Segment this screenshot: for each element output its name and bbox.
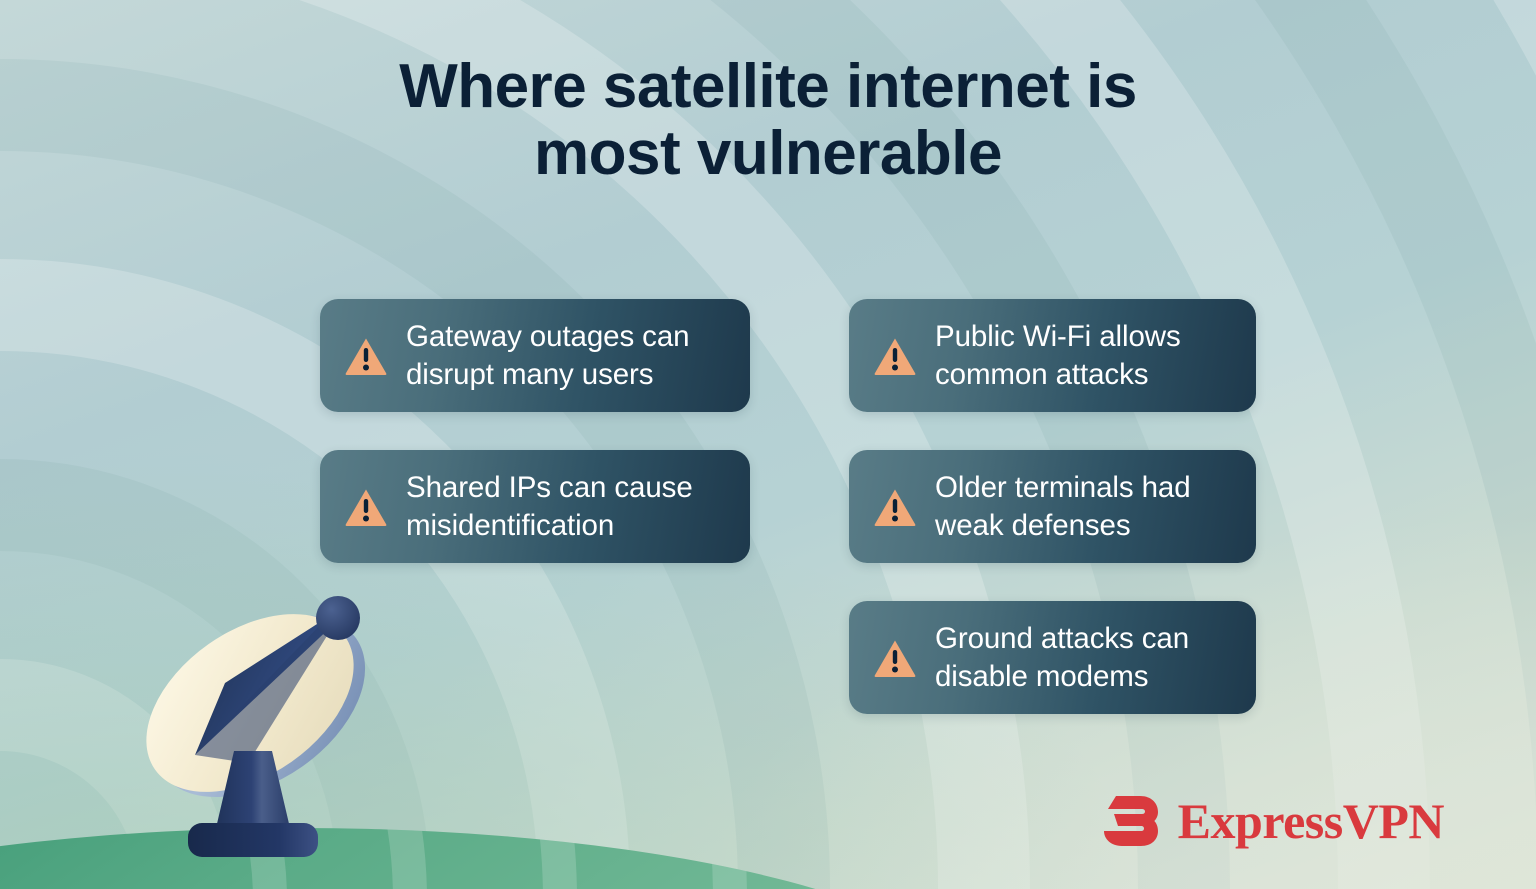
expressvpn-logo[interactable]: ExpressVPN [1100, 793, 1444, 849]
card-label: Public Wi-Fi allows common attacks [935, 318, 1181, 393]
vulnerability-card[interactable]: Public Wi-Fi allows common attacks [849, 299, 1256, 412]
title-line-1: Where satellite internet is [399, 52, 1137, 121]
warning-triangle-icon [873, 336, 917, 376]
warning-triangle-icon [873, 487, 917, 527]
vulnerability-card[interactable]: Gateway outages can disrupt many users [320, 299, 750, 412]
page-title: Where satellite internet is most vulnera… [0, 54, 1536, 188]
card-label: Gateway outages can disrupt many users [406, 318, 689, 393]
warning-triangle-icon [344, 487, 388, 527]
vulnerability-card[interactable]: Ground attacks can disable modems [849, 601, 1256, 714]
warning-triangle-icon [873, 638, 917, 678]
title-line-2: most vulnerable [0, 121, 1536, 188]
warning-triangle-icon [344, 336, 388, 376]
receiver-ball [316, 596, 360, 640]
infographic-canvas: Where satellite internet is most vulnera… [0, 0, 1536, 889]
card-label: Older terminals had weak defenses [935, 469, 1191, 544]
expressvpn-wordmark: ExpressVPN [1178, 796, 1444, 846]
card-label: Shared IPs can cause misidentification [406, 469, 693, 544]
satellite-dish-illustration [130, 575, 410, 865]
vulnerability-card[interactable]: Older terminals had weak defenses [849, 450, 1256, 563]
card-label: Ground attacks can disable modems [935, 620, 1189, 695]
vulnerability-card[interactable]: Shared IPs can cause misidentification [320, 450, 750, 563]
expressvpn-e-mark-icon [1100, 793, 1162, 849]
